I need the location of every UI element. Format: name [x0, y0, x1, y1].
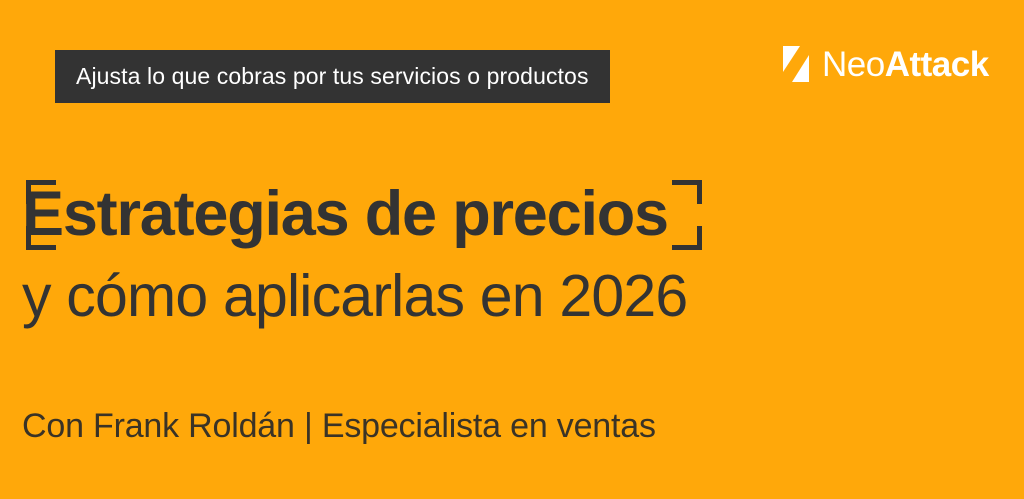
bracket-right-top-vertical [697, 180, 702, 204]
headline-block: Estrategias de precios y cómo aplicarlas… [22, 168, 1002, 260]
headline-line-2: y cómo aplicarlas en 2026 [22, 256, 687, 336]
bracket-right-top-horizontal [672, 180, 702, 185]
promo-slide: NeoAttack Ajusta lo que cobras por tus s… [0, 0, 1024, 499]
headline-line-1: Estrategias de precios [22, 168, 668, 260]
bracket-right-bottom-vertical [697, 226, 702, 250]
presenter-credit: Con Frank Roldán | Especialista en venta… [22, 404, 656, 448]
bracket-right-bottom-horizontal [672, 245, 702, 250]
brand-wordmark: NeoAttack [822, 47, 989, 82]
kicker-banner: Ajusta lo que cobras por tus servicios o… [55, 50, 610, 103]
brand-logo: NeoAttack [783, 46, 989, 82]
brand-wordmark-light: Neo [822, 45, 885, 84]
neoattack-logo-mark-icon [783, 46, 809, 82]
brand-wordmark-bold: Attack [885, 45, 989, 84]
kicker-text: Ajusta lo que cobras por tus servicios o… [76, 65, 589, 88]
bracket-right-corner-mark [672, 180, 702, 250]
headline-primary-row: Estrategias de precios [22, 168, 1002, 260]
